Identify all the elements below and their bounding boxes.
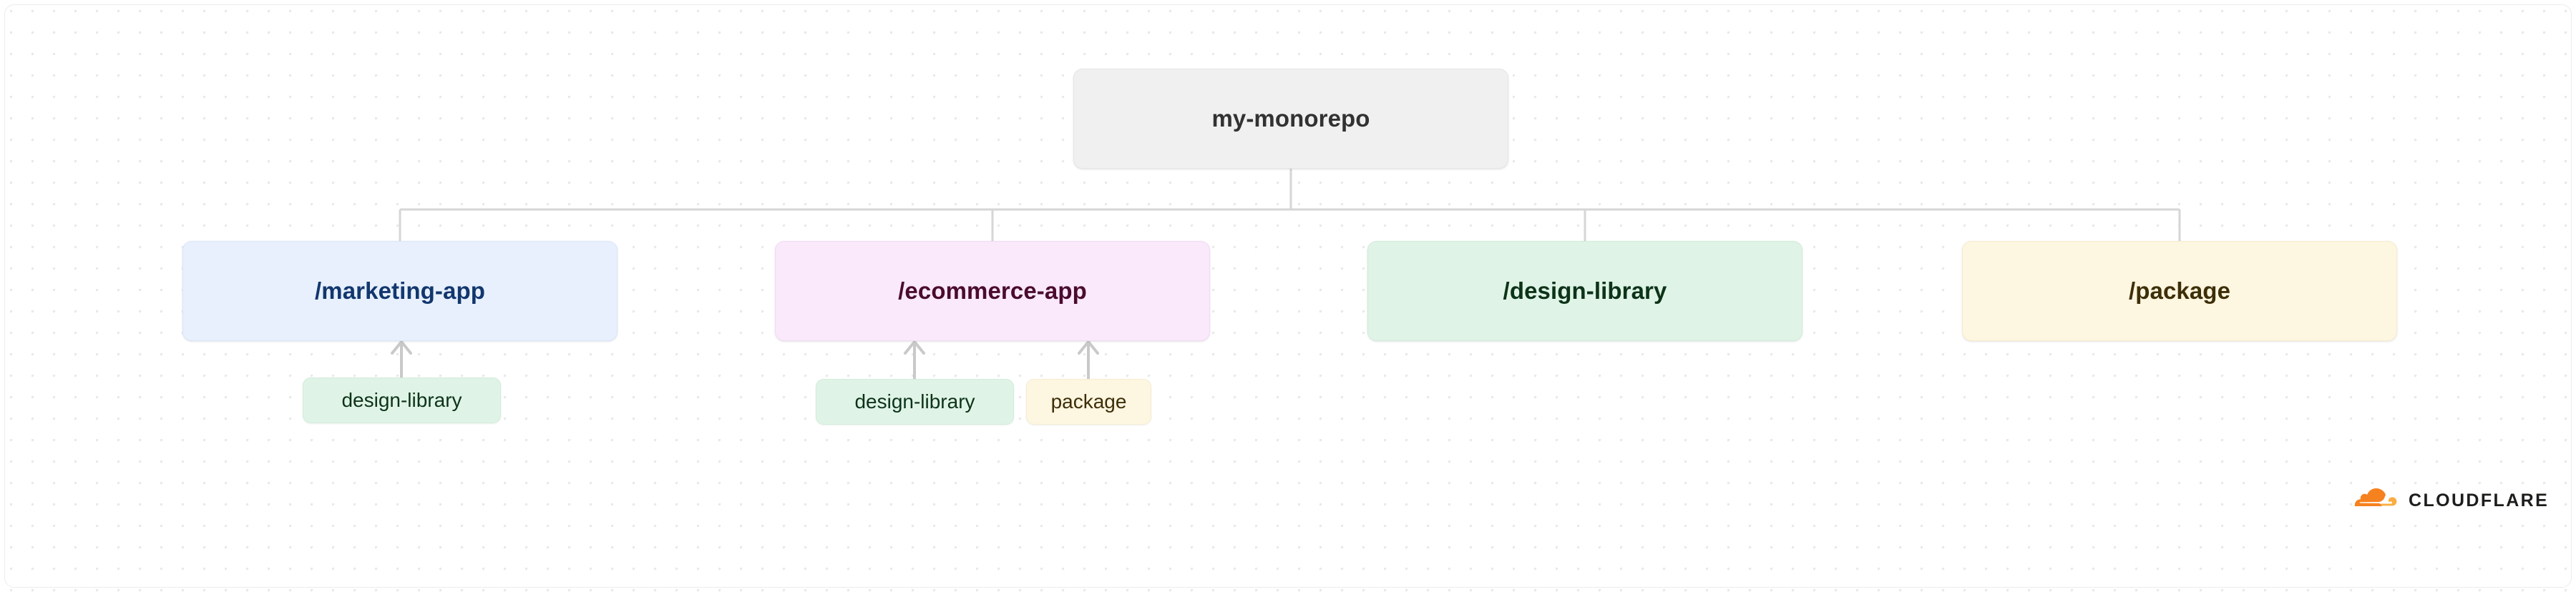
chip-marketing-design-library[interactable]: design-library bbox=[303, 378, 501, 423]
node-marketing-app[interactable]: /marketing-app bbox=[182, 241, 618, 341]
node-label: /package bbox=[2129, 277, 2230, 305]
edge-ecommerce-design-library bbox=[905, 342, 924, 379]
chip-ecommerce-design-library[interactable]: design-library bbox=[816, 379, 1014, 425]
node-design-library[interactable]: /design-library bbox=[1367, 241, 1802, 341]
edge-ecommerce-package bbox=[1079, 342, 1098, 379]
node-label: /design-library bbox=[1503, 277, 1667, 305]
cloud-main-shape bbox=[2355, 488, 2386, 508]
cloudflare-logo: CLOUDFLARE bbox=[2347, 488, 2549, 513]
edge-marketing-design-library bbox=[392, 342, 411, 378]
chip-label: design-library bbox=[854, 390, 975, 413]
node-label: /ecommerce-app bbox=[898, 277, 1087, 305]
node-package[interactable]: /package bbox=[1962, 241, 2397, 341]
cloudflare-cloud-icon bbox=[2347, 488, 2401, 513]
node-my-monorepo[interactable]: my-monorepo bbox=[1073, 69, 1508, 169]
diagram-canvas: my-monorepo /marketing-app /ecommerce-ap… bbox=[0, 0, 2576, 592]
node-ecommerce-app[interactable]: /ecommerce-app bbox=[775, 241, 1210, 341]
node-label: my-monorepo bbox=[1211, 105, 1370, 132]
chip-label: design-library bbox=[341, 389, 462, 412]
chip-ecommerce-package[interactable]: package bbox=[1026, 379, 1151, 425]
node-label: /marketing-app bbox=[315, 277, 485, 305]
cloudflare-wordmark: CLOUDFLARE bbox=[2409, 490, 2549, 511]
chip-label: package bbox=[1051, 390, 1127, 413]
